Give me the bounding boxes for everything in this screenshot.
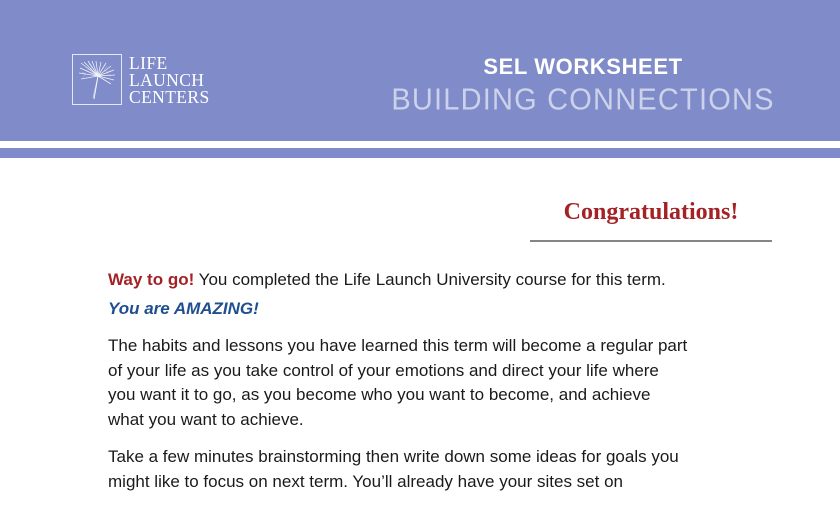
header-white-gap <box>0 141 840 148</box>
congratulations-heading: Congratulations! <box>530 198 772 226</box>
paragraph-habits: The habits and lessons you have learned … <box>108 334 688 432</box>
dandelion-seed-icon <box>72 54 122 105</box>
lead-line: Way to go! You completed the Life Launch… <box>108 268 688 291</box>
worksheet-topic-title: BUILDING CONNECTIONS <box>390 82 776 118</box>
paragraph-brainstorm: Take a few minutes brainstorming then wr… <box>108 445 688 494</box>
page-header: LIFE LAUNCH CENTERS SEL WORKSHEET BUILDI… <box>0 0 840 141</box>
worksheet-body: Way to go! You completed the Life Launch… <box>108 268 688 507</box>
header-accent-bar <box>0 148 840 158</box>
congratulations-block: Congratulations! <box>530 198 772 242</box>
worksheet-type-title: SEL WORKSHEET <box>390 55 776 79</box>
congratulations-divider <box>530 240 772 242</box>
brand-line-centers: CENTERS <box>129 89 210 106</box>
header-title-block: SEL WORKSHEET BUILDING CONNECTIONS <box>390 55 776 116</box>
lead-bold-text: Way to go! <box>108 270 194 289</box>
brand-logo: LIFE LAUNCH CENTERS <box>72 54 210 106</box>
lead-rest-text: You completed the Life Launch University… <box>194 270 666 289</box>
brand-wordmark: LIFE LAUNCH CENTERS <box>129 54 210 106</box>
amazing-line: You are AMAZING! <box>108 297 688 320</box>
